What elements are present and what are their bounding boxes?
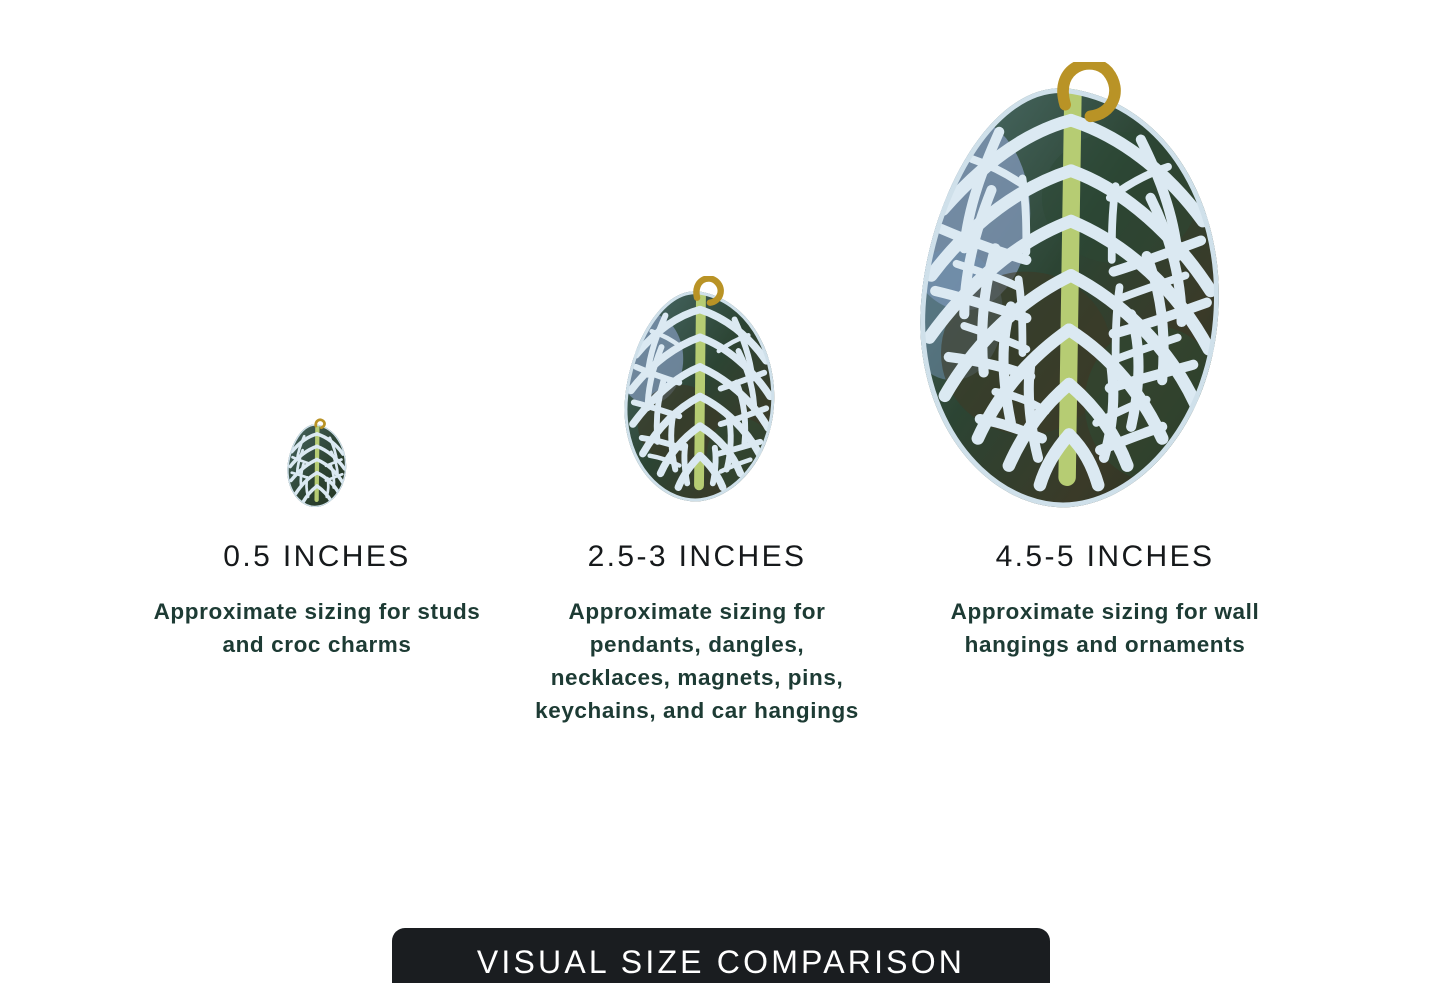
- leaf-pendant-medium-icon: [612, 276, 788, 508]
- size-heading: 0.5 INCHES: [147, 540, 487, 573]
- leaf-pendant-large-icon: [903, 62, 1239, 518]
- size-column-large: 4.5-5 INCHES Approximate sizing for wall…: [935, 540, 1275, 661]
- size-heading: 2.5-3 INCHES: [527, 540, 867, 573]
- size-column-small: 0.5 INCHES Approximate sizing for studs …: [147, 540, 487, 661]
- size-description: Approximate sizing for pendants, dangles…: [527, 595, 867, 727]
- size-column-medium: 2.5-3 INCHES Approximate sizing for pend…: [527, 540, 867, 727]
- size-description: Approximate sizing for studs and croc ch…: [147, 595, 487, 661]
- leaf-pendant-small-icon: [284, 418, 350, 510]
- size-description: Approximate sizing for wall hangings and…: [935, 595, 1275, 661]
- visual-size-comparison-graphic: 0.5 INCHES Approximate sizing for studs …: [0, 0, 1445, 983]
- banner-label: VISUAL SIZE COMPARISON: [477, 946, 965, 978]
- visual-size-comparison-banner: VISUAL SIZE COMPARISON: [392, 928, 1050, 983]
- size-heading: 4.5-5 INCHES: [935, 540, 1275, 573]
